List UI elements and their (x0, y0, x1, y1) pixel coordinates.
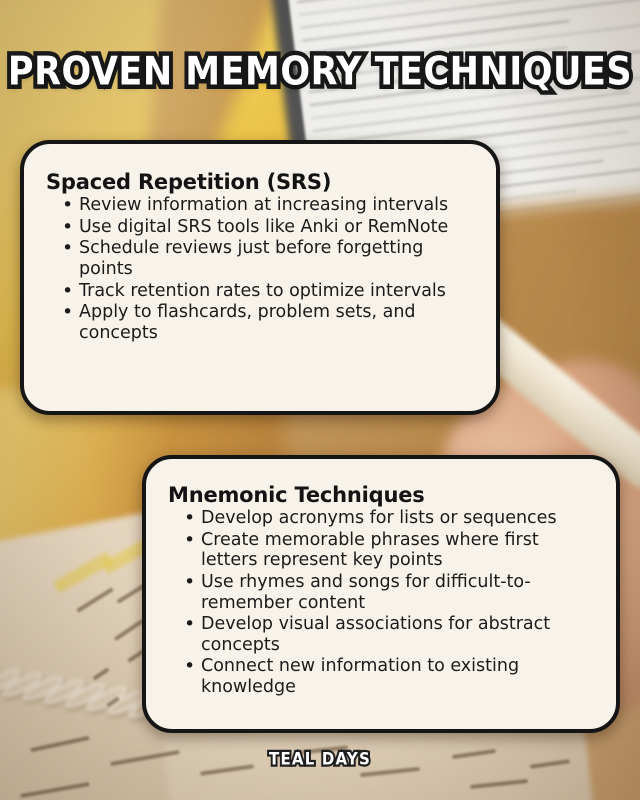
list-item: Apply to flashcards, problem sets, and c… (46, 302, 474, 343)
technique-card-mnemonic: Mnemonic Techniques Develop acronyms for… (142, 455, 620, 733)
list-item: Connect new information to existing know… (168, 656, 594, 697)
list-item: Use rhymes and songs for difficult-to-re… (168, 572, 594, 613)
list-item: Create memorable phrases where first let… (168, 530, 594, 571)
page-title: PROVEN MEMORY TECHNIQUES (0, 50, 640, 95)
list-item: Develop acronyms for lists or sequences (168, 508, 594, 529)
card-bullet-list: Develop acronyms for lists or sequences … (168, 508, 594, 698)
card-bullet-list: Review information at increasing interva… (46, 195, 474, 343)
list-item: Use digital SRS tools like Anki or RemNo… (46, 217, 474, 238)
card-heading: Spaced Repetition (SRS) (46, 170, 474, 194)
card-heading: Mnemonic Techniques (168, 483, 594, 507)
poster-canvas: PROVEN MEMORY TECHNIQUES Spaced Repetiti… (0, 0, 640, 800)
brand-watermark: TEAL DAYS (0, 749, 640, 769)
list-item: Review information at increasing interva… (46, 195, 474, 216)
list-item: Develop visual associations for abstract… (168, 614, 594, 655)
list-item: Schedule reviews just before forgetting … (46, 238, 474, 279)
list-item: Track retention rates to optimize interv… (46, 281, 474, 302)
technique-card-spaced-repetition: Spaced Repetition (SRS) Review informati… (20, 140, 500, 415)
